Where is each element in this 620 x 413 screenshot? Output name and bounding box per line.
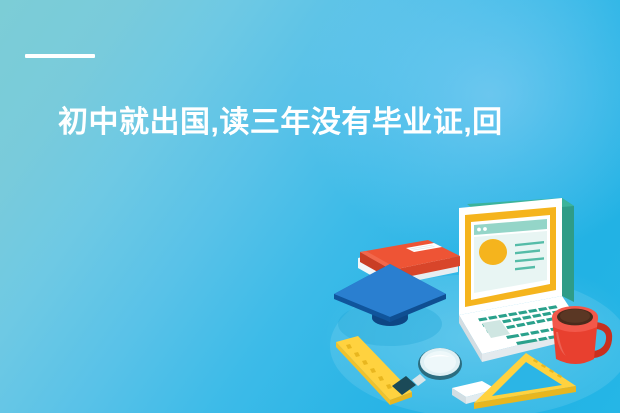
study-desk-illustration: [330, 196, 620, 413]
screen-avatar: [479, 239, 507, 265]
banner-image: 初中就出国,读三年没有毕业证,回: [0, 0, 620, 413]
headline-text: 初中就出国,读三年没有毕业证,回: [58, 104, 558, 142]
headline-divider-rule: [25, 54, 95, 58]
